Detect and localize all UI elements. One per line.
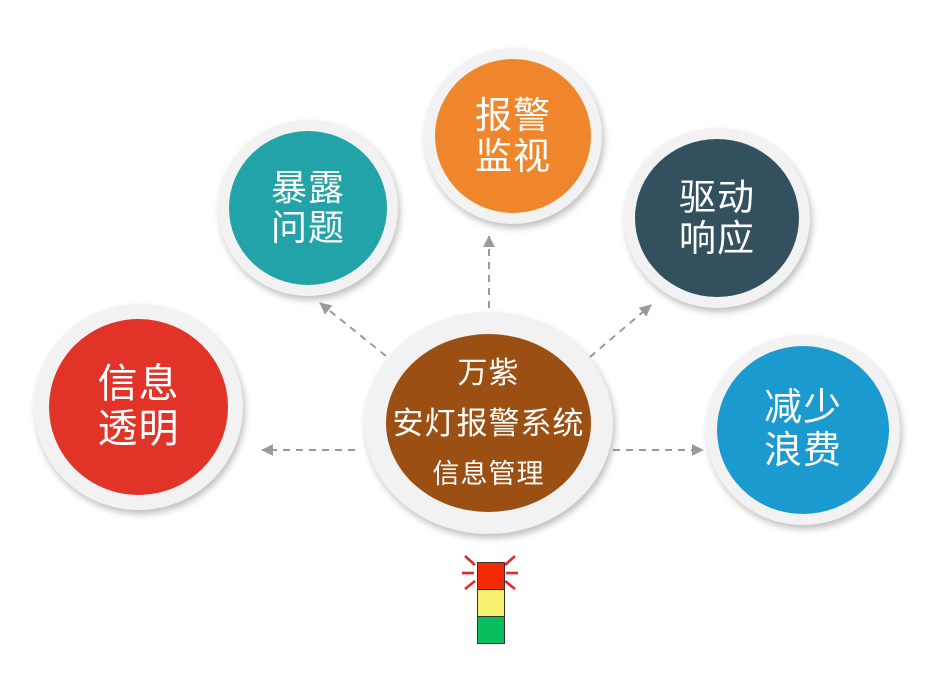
node-reduce-waste-fill: 减少 浪费 [717,346,889,514]
node-alarm-monitor[interactable]: 报警 监视 [424,48,602,224]
node-drive-response-line-2: 响应 [679,218,755,259]
node-expose-problem-line-2: 问题 [271,208,345,248]
andon-tower-body [477,562,505,644]
center-node-fill: 万紫 安灯报警系统 信息管理 [386,334,591,512]
center-node[interactable]: 万紫 安灯报警系统 信息管理 [364,312,613,534]
center-node-line-1: 万紫 [458,357,520,391]
node-reduce-waste[interactable]: 减少 浪费 [706,335,900,525]
node-reduce-waste-line-2: 浪费 [764,430,842,473]
node-alarm-monitor-line-2: 监视 [475,136,551,177]
connector-to-drive-response [590,305,651,357]
connector-to-expose-problem [320,303,386,356]
node-info-transparent-fill: 信息 透明 [49,319,228,495]
andon-segment-yellow [478,590,504,617]
node-info-transparent[interactable]: 信息 透明 [34,304,243,510]
node-reduce-waste-line-1: 减少 [764,387,842,430]
node-info-transparent-line-1: 信息 [98,362,180,407]
node-alarm-monitor-fill: 报警 监视 [435,59,591,213]
node-expose-problem-fill: 暴露 问题 [229,131,387,285]
node-alarm-monitor-line-1: 报警 [475,95,551,136]
center-node-line-3: 信息管理 [433,459,545,489]
andon-segment-red [478,563,504,590]
node-expose-problem-line-1: 暴露 [271,168,345,208]
node-drive-response[interactable]: 驱动 响应 [624,128,810,308]
node-expose-problem[interactable]: 暴露 问题 [218,120,398,296]
andon-light-tower [462,552,518,648]
node-drive-response-fill: 驱动 响应 [635,139,799,297]
center-node-line-2: 安灯报警系统 [393,407,585,442]
andon-segment-green [478,617,504,643]
node-info-transparent-line-2: 透明 [98,407,180,452]
node-drive-response-line-1: 驱动 [679,177,755,218]
diagram-canvas: 暴露 问题 报警 监视 驱动 响应 信息 透明 减少 浪费 万紫 安 [0,0,939,680]
